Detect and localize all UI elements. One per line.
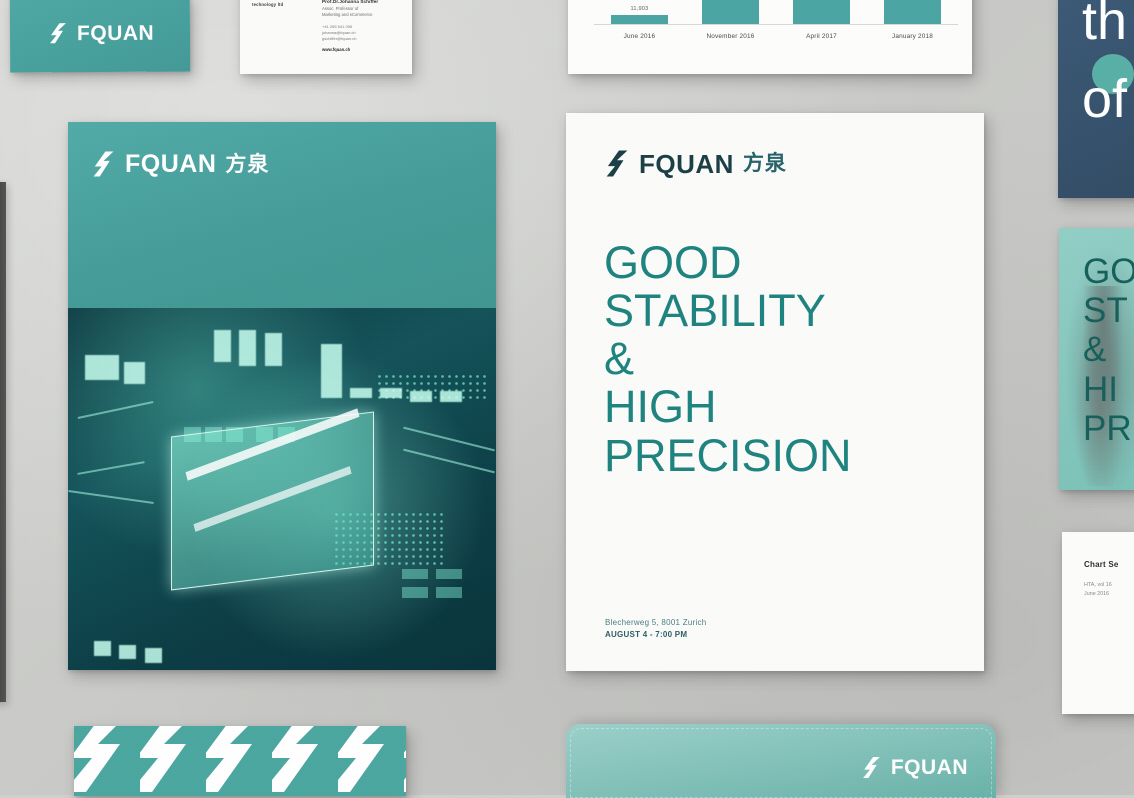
- brochure-cover: FQUAN 方泉: [68, 122, 496, 670]
- headline-line: &: [1083, 330, 1134, 369]
- business-card-contact: +41 265 541 095johanna@fquan.chgschiffer…: [322, 24, 402, 42]
- headline-line: ST: [1083, 291, 1134, 330]
- navy-type-card: th of: [1058, 0, 1134, 198]
- chart-axis-line: [594, 24, 958, 25]
- bar-column: 34,000: [690, 0, 770, 24]
- bar-chart-sheet: 11,903 34,000 June 2016: [568, 0, 972, 74]
- brochure-header-panel: FQUAN 方泉: [68, 122, 496, 308]
- business-card-details: Prof.Dr.Johanna Schiffer Assoc. Professo…: [322, 0, 402, 52]
- headline-line: GOOD: [604, 239, 964, 287]
- poster-datetime: AUGUST 4 - 7:00 PM: [605, 630, 706, 639]
- chart-tick-label: January 2018: [872, 33, 952, 40]
- navy-text-line-2: of: [1082, 74, 1127, 125]
- fquan-chevron-pattern-icon: [74, 726, 406, 796]
- brand-logo: FQUAN: [861, 756, 968, 779]
- brand-wordmark-cn: 方泉: [225, 154, 269, 175]
- business-card-name: Prof.Dr.Johanna Schiffer: [322, 0, 402, 4]
- business-card: technology ltd Prof.Dr.Johanna Schiffer …: [240, 0, 412, 74]
- brand-wordmark: FQUAN: [125, 152, 216, 177]
- business-card-role: Assoc. Professor ofMarketing and eCommer…: [322, 6, 402, 18]
- chart-tick-label: June 2016: [599, 33, 679, 40]
- brand-logo: FQUAN 方泉: [604, 149, 787, 178]
- bar-rect: [611, 15, 669, 24]
- poster-footer: Blecherweg 5, 8001 Zurich AUGUST 4 - 7:0…: [605, 618, 706, 639]
- brand-logo: FQUAN 方泉: [91, 150, 269, 178]
- poster-address: Blecherweg 5, 8001 Zurich: [605, 618, 706, 627]
- business-card-header: technology ltd: [252, 2, 283, 7]
- pattern-card: [74, 726, 406, 796]
- bar-rect: [884, 0, 942, 24]
- poster-headline: GOOD STABILITY & HIGH PRECISION: [604, 239, 964, 480]
- mockup-scene: FQUAN technology ltd Prof.Dr.Johanna Sch…: [0, 0, 1134, 795]
- navy-text-line-1: th: [1082, 0, 1127, 47]
- headline-line: STABILITY: [604, 287, 964, 335]
- business-card-website: www.fquan.ch: [322, 47, 402, 52]
- bar-column: 11,903: [599, 0, 679, 24]
- chart-tick-label: April 2017: [781, 33, 861, 40]
- bar-chart-bars: 11,903 34,000: [594, 0, 958, 24]
- chart-section-title: Chart Se: [1084, 560, 1119, 569]
- brand-wordmark: FQUAN: [77, 22, 154, 43]
- green-photo-poster: GO ST & HI PR: [1059, 228, 1134, 490]
- bar-rect: [793, 0, 851, 24]
- headline-line: GO: [1083, 252, 1134, 291]
- event-poster: FQUAN 方泉 GOOD STABILITY & HIGH PRECISION…: [566, 113, 984, 671]
- headline-line: &: [604, 335, 964, 383]
- headline-line: PR: [1083, 409, 1134, 448]
- chart-section-card: Chart Se HTA, vol 16June 2016: [1062, 532, 1134, 714]
- brand-wordmark: FQUAN: [639, 151, 734, 177]
- fquan-chevron-mark-icon: [861, 756, 882, 779]
- green-poster-headline: GO ST & HI PR: [1083, 252, 1134, 448]
- headline-line: HIGH: [604, 383, 964, 431]
- chip-graphic: [171, 411, 374, 590]
- bar-column: [872, 0, 952, 24]
- fabric-item: FQUAN: [566, 724, 996, 798]
- brand-wordmark-cn: 方泉: [743, 153, 787, 174]
- headline-line: PRECISION: [604, 432, 964, 480]
- fquan-chevron-mark-icon: [91, 150, 116, 178]
- bar-chart: 11,903 34,000 June 2016: [594, 0, 958, 46]
- chart-tick-label: November 2016: [690, 33, 770, 40]
- bar-value-label: 11,903: [631, 6, 649, 12]
- teal-logo-card: FQUAN: [10, 0, 190, 72]
- fquan-chevron-mark-icon: [604, 149, 630, 178]
- bar-column: [781, 0, 861, 24]
- bar-rect: [702, 0, 760, 24]
- circuit-board-photo: [68, 308, 496, 670]
- chart-category-labels: June 2016 November 2016 April 2017 Janua…: [594, 33, 958, 40]
- brand-wordmark: FQUAN: [891, 757, 968, 778]
- headline-line: HI: [1083, 370, 1134, 409]
- brand-logo: FQUAN: [48, 22, 154, 45]
- chart-section-subtitle: HTA, vol 16June 2016: [1084, 581, 1112, 599]
- fquan-chevron-mark-icon: [48, 22, 68, 44]
- left-edge-card: [0, 182, 6, 702]
